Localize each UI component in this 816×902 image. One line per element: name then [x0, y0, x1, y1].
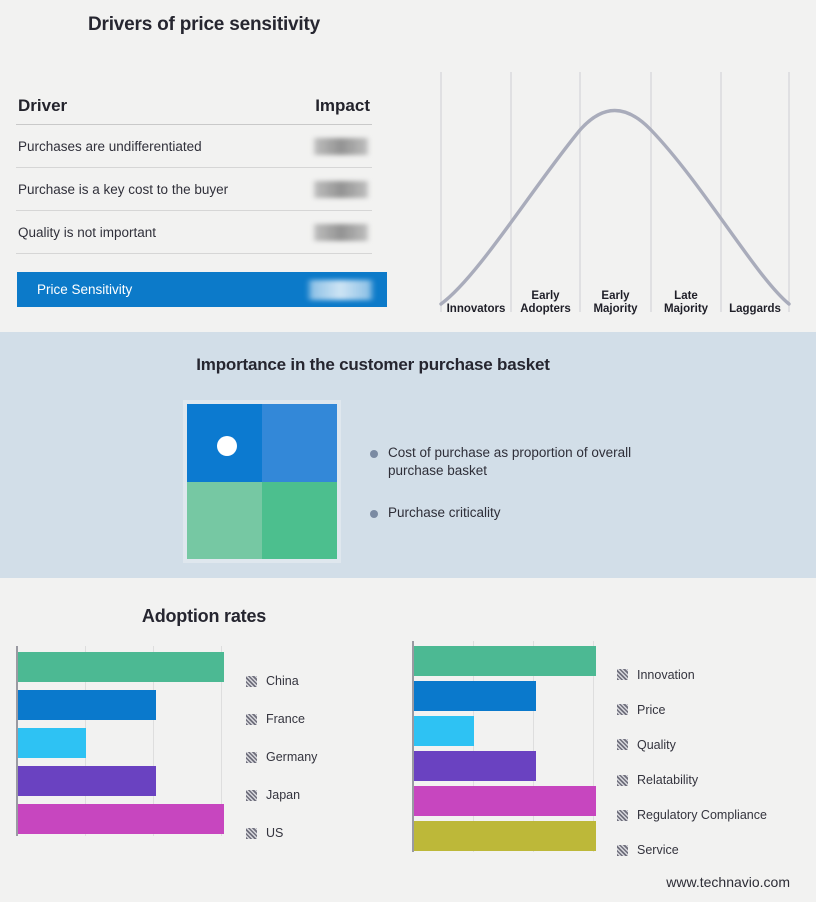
- list-item: Purchase criticality: [370, 504, 670, 522]
- bar-price: [414, 681, 536, 711]
- table-row: Quality is not important Medium: [16, 211, 372, 254]
- legend-label: Quality: [637, 738, 676, 752]
- list-item: US: [246, 814, 317, 852]
- matrix-position-marker-dot: [217, 436, 237, 456]
- list-item: Germany: [246, 738, 317, 776]
- bar-us: [18, 804, 224, 834]
- hatched-swatch-icon: [617, 739, 628, 750]
- hatched-swatch-icon: [246, 790, 257, 801]
- bar-quality: [414, 716, 474, 746]
- lifecycle-bell-curve: [441, 111, 789, 305]
- list-item: Quality: [617, 727, 767, 762]
- legend-label: Service: [637, 843, 679, 857]
- list-item: Price: [617, 692, 767, 727]
- list-item: France: [246, 700, 317, 738]
- legend-label: France: [266, 712, 305, 726]
- table-row: Purchases are undifferentiated Medium: [16, 125, 372, 168]
- bar-innovation: [414, 646, 596, 676]
- hatched-swatch-icon: [617, 775, 628, 786]
- matrix-quadrant-top-right: [262, 404, 337, 482]
- matrix-quadrant-bottom-left: [187, 482, 262, 560]
- importance-bullet-label: Cost of purchase as proportion of overal…: [388, 444, 638, 480]
- hatched-swatch-icon: [617, 704, 628, 715]
- list-item: Innovation: [617, 657, 767, 692]
- lifecycle-label-laggards: Laggards: [721, 303, 789, 316]
- price-sensitivity-impact-redacted: Medium: [306, 280, 375, 300]
- list-item: Japan: [246, 776, 317, 814]
- drivers-panel-title: Drivers of price sensitivity: [0, 14, 408, 36]
- hatched-swatch-icon: [246, 714, 257, 725]
- bullet-dot-icon: [370, 450, 378, 458]
- hatched-swatch-icon: [246, 752, 257, 763]
- list-item: Service: [617, 833, 767, 868]
- hatched-swatch-icon: [617, 845, 628, 856]
- column-header-driver: Driver: [18, 96, 67, 116]
- hatched-swatch-icon: [246, 828, 257, 839]
- bar-japan: [18, 766, 156, 796]
- legend-label: US: [266, 826, 283, 840]
- purchase-basket-matrix: [187, 404, 337, 559]
- driver-label: Purchases are undifferentiated: [18, 139, 202, 154]
- drivers-table-header-row: Driver Impact: [16, 88, 372, 125]
- driver-label: Purchase is a key cost to the buyer: [18, 182, 228, 197]
- legend-label: Relatability: [637, 773, 698, 787]
- importance-panel: Importance in the customer purchase bask…: [0, 332, 816, 578]
- price-sensitivity-summary-row: Price Sensitivity Medium: [17, 272, 387, 307]
- adoption-rates-panel: Adoption rates ChinaFranceGermanyJapanUS: [0, 578, 408, 902]
- drivers-table: Driver Impact Purchases are undifferenti…: [16, 88, 372, 254]
- legend-label: China: [266, 674, 299, 688]
- impact-value-redacted: Medium: [312, 224, 370, 241]
- key-purchase-criteria-legend: InnovationPriceQualityRelatabilityRegula…: [617, 657, 767, 868]
- bullet-dot-icon: [370, 510, 378, 518]
- list-item: Relatability: [617, 762, 767, 797]
- impact-value-redacted: Medium: [312, 181, 370, 198]
- lifecycle-label-early-majority: Early Majority: [580, 290, 651, 316]
- importance-bullet-label: Purchase criticality: [388, 504, 501, 522]
- key-purchase-criteria-chart: InnovationPriceQualityRelatabilityRegula…: [412, 641, 816, 861]
- price-sensitivity-label: Price Sensitivity: [37, 282, 132, 297]
- purchase-basket-matrix-frame: [183, 400, 341, 563]
- adoption-rates-plot-area: [16, 646, 222, 836]
- list-item: Regulatory Compliance: [617, 798, 767, 833]
- adoption-rates-chart: ChinaFranceGermanyJapanUS: [16, 646, 406, 846]
- legend-label: Germany: [266, 750, 317, 764]
- impact-value-redacted: Medium: [312, 138, 370, 155]
- key-purchase-criteria-plot-area: [412, 641, 594, 852]
- table-row: Purchase is a key cost to the buyer Medi…: [16, 168, 372, 211]
- bar-china: [18, 652, 224, 682]
- importance-legend: Cost of purchase as proportion of overal…: [370, 444, 670, 546]
- lifecycle-label-late-majority: Late Majority: [651, 290, 721, 316]
- bar-service: [414, 821, 596, 851]
- importance-panel-title: Importance in the customer purchase bask…: [0, 355, 746, 375]
- list-item: China: [246, 662, 317, 700]
- key-purchase-criteria-panel: Key purchase criteria InnovationPriceQua…: [408, 578, 816, 902]
- legend-label: Japan: [266, 788, 300, 802]
- bar-regulatory-compliance: [414, 786, 596, 816]
- adoption-rates-legend: ChinaFranceGermanyJapanUS: [246, 662, 317, 852]
- bar-relatability: [414, 751, 536, 781]
- bar-france: [18, 690, 156, 720]
- column-header-impact: Impact: [315, 96, 370, 116]
- lifecycle-stage-labels: Innovators Early Adopters Early Majority…: [418, 276, 806, 316]
- hatched-swatch-icon: [617, 810, 628, 821]
- adoption-lifecycle-panel: Adoption lifecycle Innovators Early Adop…: [408, 0, 816, 332]
- footer-url: www.technavio.com: [666, 874, 790, 890]
- hatched-swatch-icon: [246, 676, 257, 687]
- list-item: Cost of purchase as proportion of overal…: [370, 444, 670, 480]
- hatched-swatch-icon: [617, 669, 628, 680]
- legend-label: Innovation: [637, 668, 695, 682]
- legend-label: Price: [637, 703, 665, 717]
- matrix-quadrant-bottom-right: [262, 482, 337, 560]
- driver-label: Quality is not important: [18, 225, 156, 240]
- legend-label: Regulatory Compliance: [637, 808, 767, 822]
- drivers-panel: Drivers of price sensitivity Driver Impa…: [0, 0, 408, 332]
- adoption-rates-title: Adoption rates: [0, 606, 408, 627]
- lifecycle-label-early-adopters: Early Adopters: [511, 290, 580, 316]
- bar-germany: [18, 728, 86, 758]
